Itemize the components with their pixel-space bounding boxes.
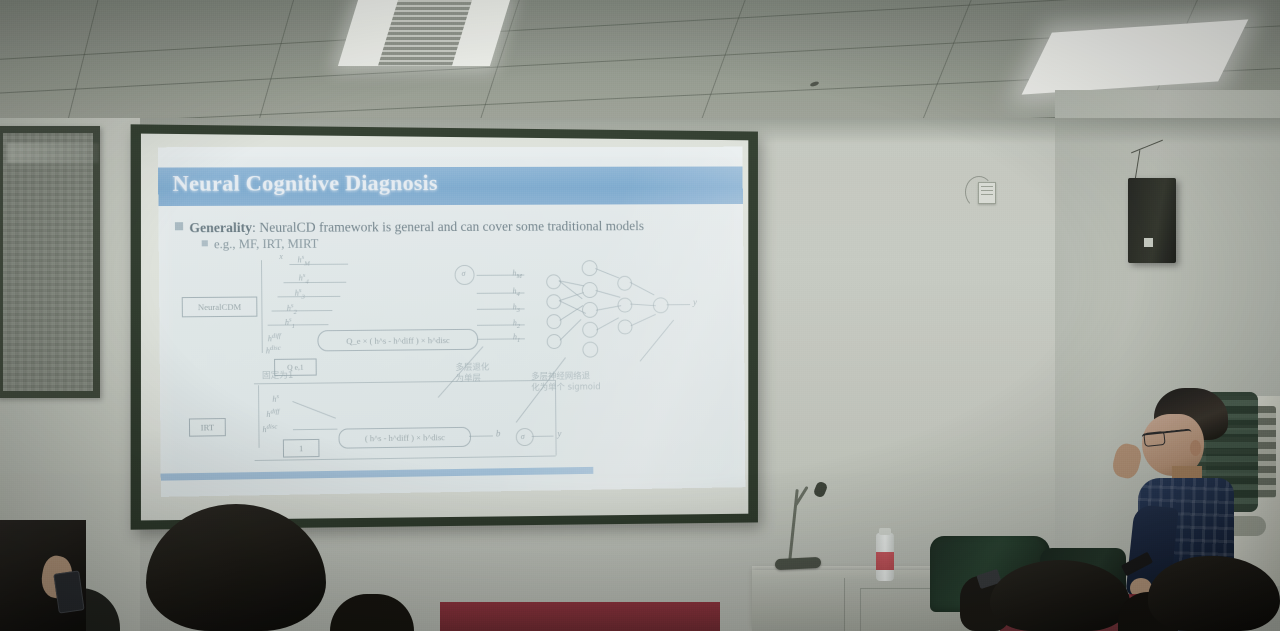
presenter-ear: [1190, 440, 1201, 456]
bullet-lead-text: Generality: [189, 220, 252, 235]
bullet-square-icon-small: [202, 240, 208, 246]
wall-speaker: [1128, 178, 1176, 263]
bullet-sub-text: e.g., MF, IRT, MIRT: [214, 237, 319, 252]
bottle-cap: [879, 528, 891, 535]
diagram-formula-top: Q_e × ( h^s - h^diff ) × h^disc: [317, 329, 478, 352]
speaker-badge-icon: [1144, 238, 1153, 247]
diagram-box-irt: IRT: [189, 418, 226, 437]
left-notice-board: [0, 126, 100, 398]
board-texture: [3, 133, 93, 391]
smoke-sensor-icon: [978, 182, 996, 204]
board-writing: [7, 143, 99, 163]
diagram-formula-bottom: ( h^s - h^diff ) × h^disc: [338, 427, 471, 449]
glasses-lens-icon: [1143, 431, 1165, 447]
bottle-label: [876, 552, 894, 570]
lecture-hall-photo: Neural Cognitive Diagnosis Generality: N…: [0, 0, 1280, 631]
diagram-box-one: 1: [283, 439, 320, 458]
podium-left-panel: [752, 578, 845, 631]
sensor-label-lines: [981, 186, 993, 198]
projected-slide: Neural Cognitive Diagnosis Generality: N…: [158, 147, 745, 497]
diagram-annotation-fixed-one: 固定为1: [262, 371, 293, 382]
audience-phone: [53, 570, 84, 613]
projector-glare: [461, 147, 745, 492]
diagram-box-neuralcdm: NeuralCDM: [182, 297, 258, 318]
ceiling-light-right: [1022, 19, 1249, 94]
front-desk-left: [440, 602, 720, 631]
ceiling-mark: [810, 81, 820, 88]
bullet-square-icon: [175, 222, 183, 230]
